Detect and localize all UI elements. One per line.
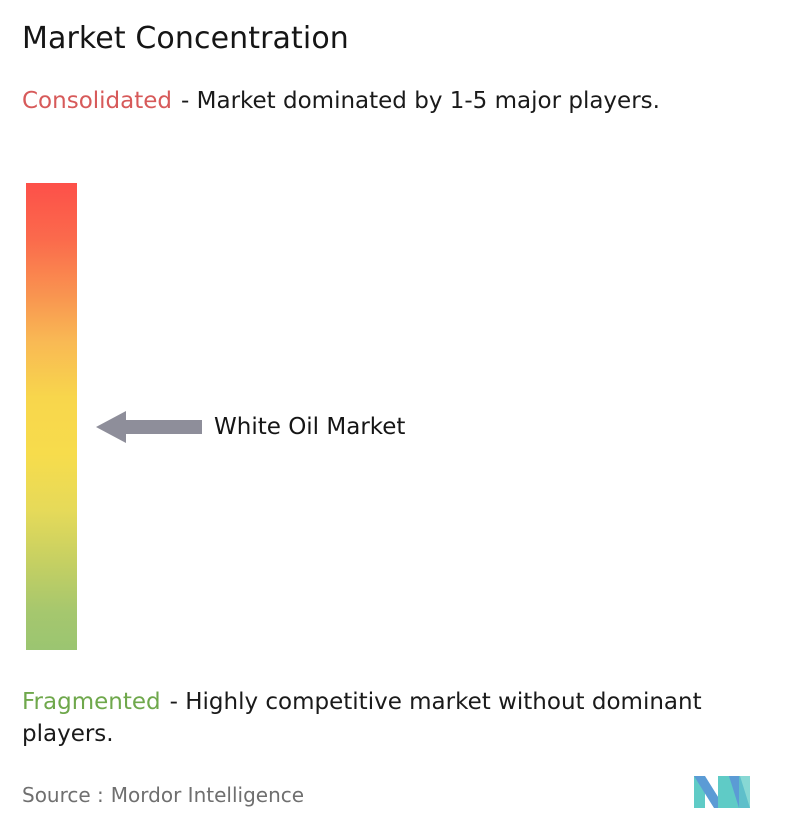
- fragmented-keyword: Fragmented: [22, 689, 161, 715]
- market-concentration-infographic: Market Concentration Consolidated- Marke…: [0, 0, 796, 834]
- arrow-left-icon: [96, 409, 202, 445]
- source-label: Source :: [22, 783, 104, 807]
- source-value: Mordor Intelligence: [111, 783, 304, 807]
- consolidated-description: - Market dominated by 1-5 major players.: [181, 88, 660, 114]
- consolidated-keyword: Consolidated: [22, 88, 172, 114]
- market-position-marker: White Oil Market: [96, 409, 405, 445]
- source-attribution: Source :Mordor Intelligence: [22, 781, 304, 809]
- fragmented-caption: Fragmented- Highly competitive market wi…: [22, 686, 784, 750]
- concentration-gradient-bar: [26, 183, 77, 650]
- page-title: Market Concentration: [22, 20, 349, 58]
- consolidated-caption: Consolidated- Market dominated by 1-5 ma…: [22, 85, 770, 117]
- mordor-intelligence-logo: [692, 770, 756, 814]
- market-position-label: White Oil Market: [214, 412, 405, 442]
